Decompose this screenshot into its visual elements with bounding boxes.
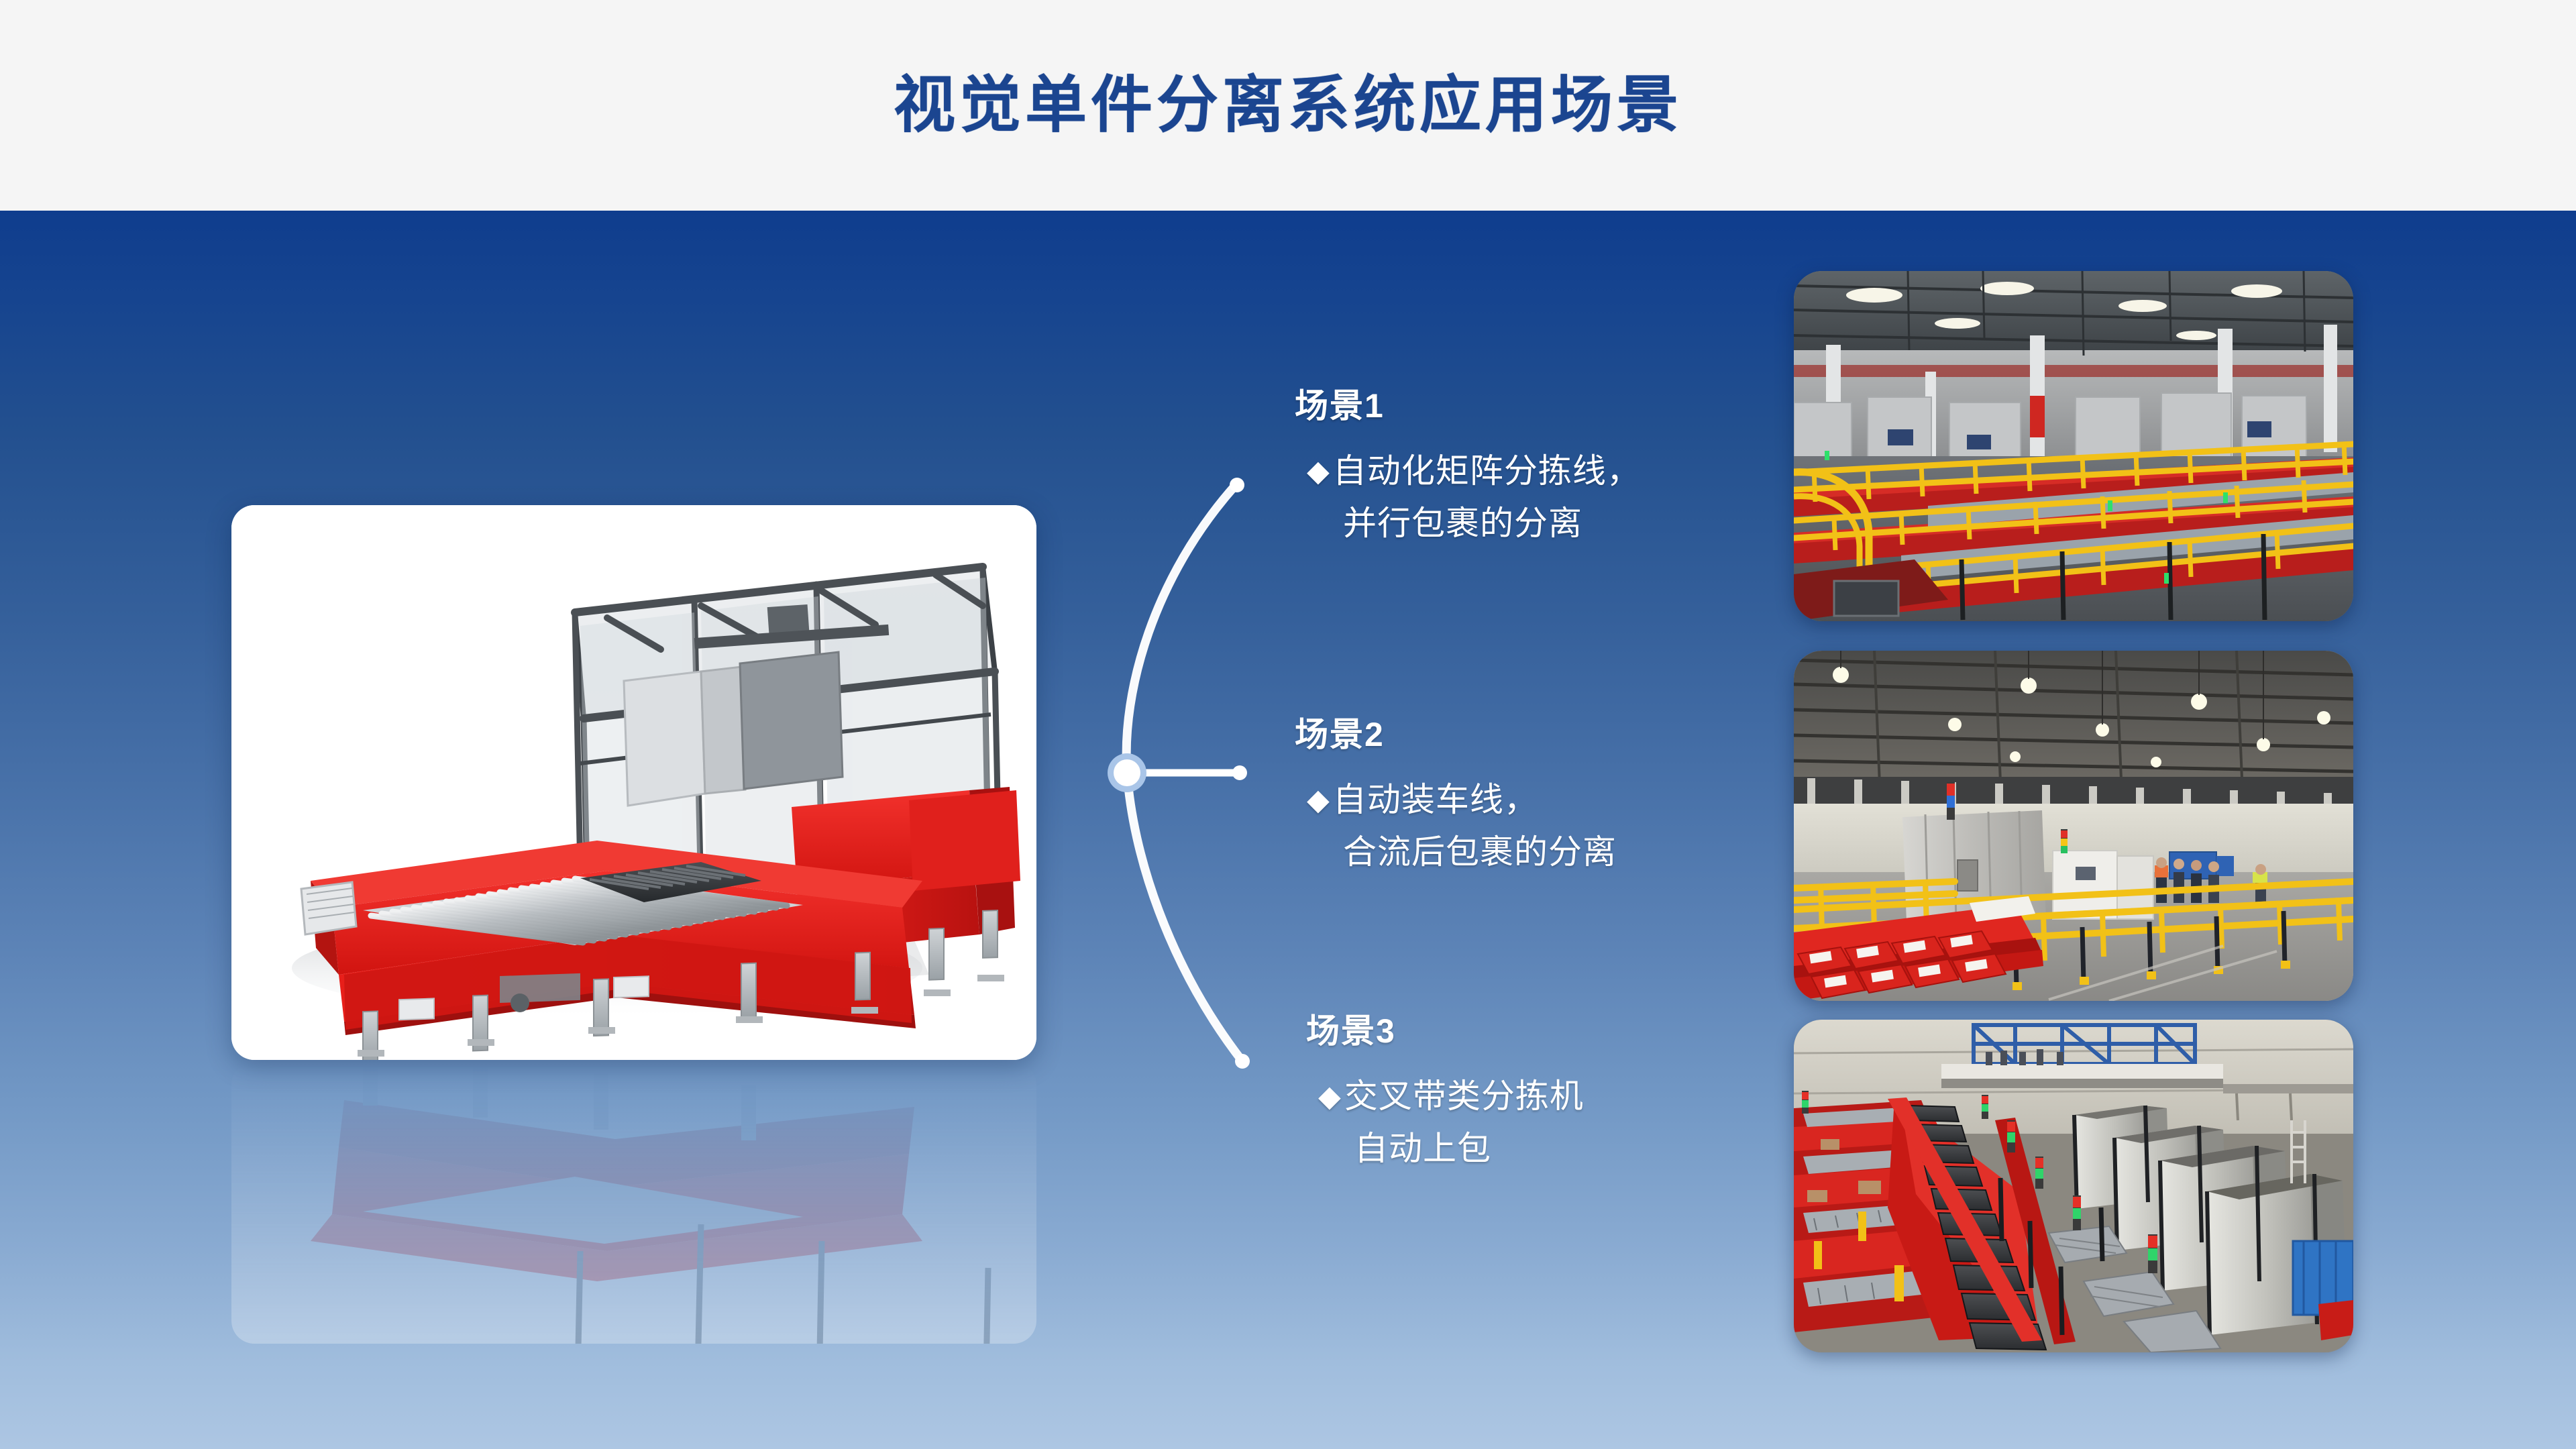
page-title: 视觉单件分离系统应用场景 [894, 74, 1682, 136]
scene-block-2: 场景2 ◆自动装车线， 合流后包裹的分离 [1307, 718, 1617, 878]
scene-2-line-1-text: 自动装车线， [1333, 781, 1538, 818]
scene-3-line-1-text: 交叉带类分拣机 [1344, 1077, 1584, 1115]
slide-root: 视觉单件分离系统应用场景 [0, 0, 2576, 1449]
scene-2-line-2: 合流后包裹的分离 [1307, 826, 1617, 879]
scene-3-line-1: ◆交叉带类分拣机 [1318, 1071, 1584, 1123]
slide-header: 视觉单件分离系统应用场景 [0, 0, 2576, 211]
scene-1-photo [1794, 271, 2353, 621]
scene-block-3: 场景3 ◆交叉带类分拣机 自动上包 [1318, 1014, 1584, 1175]
scene-1-line-1: ◆自动化矩阵分拣线， [1307, 445, 1641, 498]
scene-3-line-2: 自动上包 [1318, 1123, 1584, 1175]
product-image-card [231, 505, 1036, 1060]
diamond-bullet-icon: ◆ [1307, 784, 1330, 816]
diamond-bullet-icon: ◆ [1307, 455, 1330, 488]
scene-block-1: 场景1 ◆自动化矩阵分拣线， 并行包裹的分离 [1307, 389, 1641, 549]
scene-2-photo [1794, 651, 2353, 1001]
scene-1-line-2: 并行包裹的分离 [1307, 498, 1641, 550]
scene-1-line-1-text: 自动化矩阵分拣线， [1333, 452, 1641, 490]
diamond-bullet-icon: ◆ [1318, 1080, 1342, 1113]
machine-3d-illustration [231, 505, 1036, 1060]
scene-2-title: 场景2 [1295, 718, 1617, 751]
scene-3-title: 场景3 [1306, 1014, 1584, 1048]
scene-3-photo [1794, 1020, 2353, 1352]
scene-connector-diagram [1046, 376, 1328, 1167]
scene-1-title: 场景1 [1295, 389, 1641, 423]
scene-2-line-1: ◆自动装车线， [1307, 774, 1617, 826]
